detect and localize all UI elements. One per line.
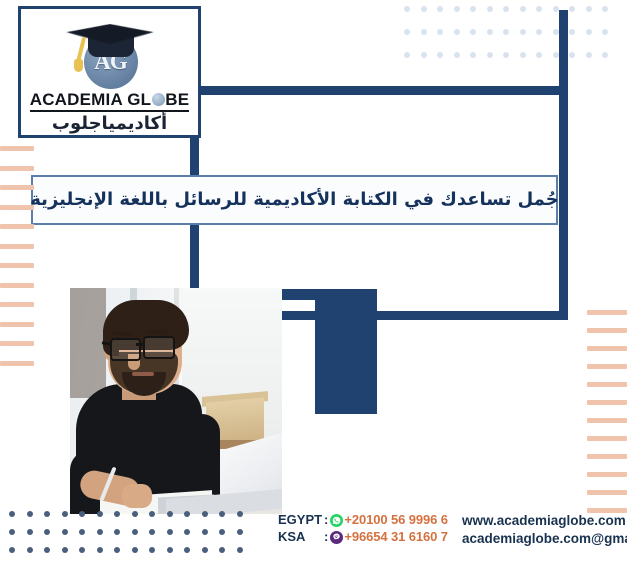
dot xyxy=(184,547,190,553)
stripe xyxy=(587,328,627,333)
dot-grid-bottom-left-icon xyxy=(9,511,243,553)
stripe xyxy=(587,364,627,369)
dot xyxy=(237,529,243,535)
dot xyxy=(132,547,138,553)
dot xyxy=(237,547,243,553)
stripe xyxy=(0,185,34,190)
cap-board-shape xyxy=(60,24,159,44)
website-link[interactable]: www.academiaglobe.com xyxy=(462,513,627,529)
dot xyxy=(27,529,33,535)
stripe xyxy=(587,454,627,459)
navy-block-vertical xyxy=(315,289,377,414)
contact-row-egypt[interactable]: EGYPT : +20100 56 9996 6 xyxy=(278,513,448,528)
stripe xyxy=(587,346,627,351)
dot xyxy=(569,29,575,35)
headline-text: جُمل تساعدك في الكتابة الأكاديمية للرسائ… xyxy=(30,189,558,211)
stripe-stack-right-icon xyxy=(587,310,627,513)
dot xyxy=(602,29,608,35)
dot xyxy=(219,547,225,553)
dot xyxy=(184,529,190,535)
dot xyxy=(27,547,33,553)
dot xyxy=(167,529,173,535)
whatsapp-icon xyxy=(330,514,343,527)
contact-colon-egypt: : xyxy=(324,513,328,528)
stripe xyxy=(0,341,34,346)
dot xyxy=(114,547,120,553)
dot xyxy=(569,6,575,12)
dot xyxy=(44,529,50,535)
dot xyxy=(586,6,592,12)
dot xyxy=(586,29,592,35)
dot xyxy=(149,547,155,553)
stripe xyxy=(587,418,627,423)
logo-arabic-wordmark: أكاديمياجلوب xyxy=(52,114,167,134)
stripe xyxy=(587,472,627,477)
dot xyxy=(132,511,138,517)
viber-icon xyxy=(330,531,343,544)
dot xyxy=(602,52,608,58)
stripe xyxy=(587,490,627,495)
dot xyxy=(44,511,50,517)
stripe xyxy=(587,382,627,387)
dot xyxy=(202,529,208,535)
dot xyxy=(149,511,155,517)
dot xyxy=(97,529,103,535)
contact-colon-ksa: : xyxy=(324,530,328,545)
logo-wordmark: ACADEMIA GLBE xyxy=(30,91,190,112)
dot xyxy=(167,547,173,553)
dot xyxy=(44,547,50,553)
navy-frame-top-rule xyxy=(190,86,568,95)
dot xyxy=(97,547,103,553)
contact-strip: EGYPT : +20100 56 9996 6 KSA : +96654 31… xyxy=(278,513,623,561)
email-link[interactable]: academiaglobe.com@gmail.com xyxy=(462,531,627,547)
dot xyxy=(62,529,68,535)
hero-photo xyxy=(70,288,282,514)
dot xyxy=(149,529,155,535)
dot xyxy=(132,529,138,535)
contact-row-ksa[interactable]: KSA : +96654 31 6160 7 xyxy=(278,530,448,545)
contact-web-list: www.academiaglobe.com academiaglobe.com@… xyxy=(462,513,627,547)
dot xyxy=(602,6,608,12)
logo-wordmark-part2: BE xyxy=(165,90,189,109)
contact-phone-list: EGYPT : +20100 56 9996 6 KSA : +96654 31… xyxy=(278,513,448,545)
dot xyxy=(79,547,85,553)
contact-number-egypt: +20100 56 9996 6 xyxy=(344,513,448,528)
dot xyxy=(202,511,208,517)
stripe-stack-left-icon xyxy=(0,146,34,366)
dot xyxy=(9,529,15,535)
stripe xyxy=(587,310,627,315)
contact-number-ksa: +96654 31 6160 7 xyxy=(344,530,448,545)
dot xyxy=(79,529,85,535)
logo-card: AG ACADEMIA GLBE أكاديمياجلوب xyxy=(18,6,201,138)
stripe xyxy=(0,205,34,210)
dot xyxy=(9,511,15,517)
contact-label-ksa: KSA xyxy=(278,530,324,545)
stripe xyxy=(0,322,34,327)
dot xyxy=(9,547,15,553)
stripe xyxy=(0,146,34,151)
dot xyxy=(62,547,68,553)
headline-bar: جُمل تساعدك في الكتابة الأكاديمية للرسائ… xyxy=(31,175,558,225)
dot xyxy=(569,52,575,58)
dot xyxy=(586,52,592,58)
dot xyxy=(219,511,225,517)
poster-canvas: AG ACADEMIA GLBE أكاديمياجلوب جُمل تساعد… xyxy=(0,0,627,567)
stripe xyxy=(0,302,34,307)
dot xyxy=(184,511,190,517)
dot xyxy=(114,529,120,535)
graduation-cap-icon: AG xyxy=(54,13,166,91)
cap-tassel-knot-shape xyxy=(74,59,83,72)
dot xyxy=(79,511,85,517)
stripe xyxy=(0,224,34,229)
stripe xyxy=(587,436,627,441)
stripe xyxy=(0,283,34,288)
dot xyxy=(202,547,208,553)
globe-icon xyxy=(152,93,165,106)
dot xyxy=(167,511,173,517)
logo-wordmark-part1: ACADEMIA GL xyxy=(30,90,152,109)
stripe xyxy=(0,244,34,249)
dot xyxy=(114,511,120,517)
dot xyxy=(219,529,225,535)
stripe xyxy=(587,400,627,405)
stripe xyxy=(0,361,34,366)
dot xyxy=(62,511,68,517)
dot xyxy=(97,511,103,517)
dot xyxy=(237,511,243,517)
dot xyxy=(27,511,33,517)
stripe xyxy=(0,263,34,268)
navy-outline-frame xyxy=(190,10,568,320)
stripe xyxy=(0,166,34,171)
contact-label-egypt: EGYPT xyxy=(278,513,324,528)
